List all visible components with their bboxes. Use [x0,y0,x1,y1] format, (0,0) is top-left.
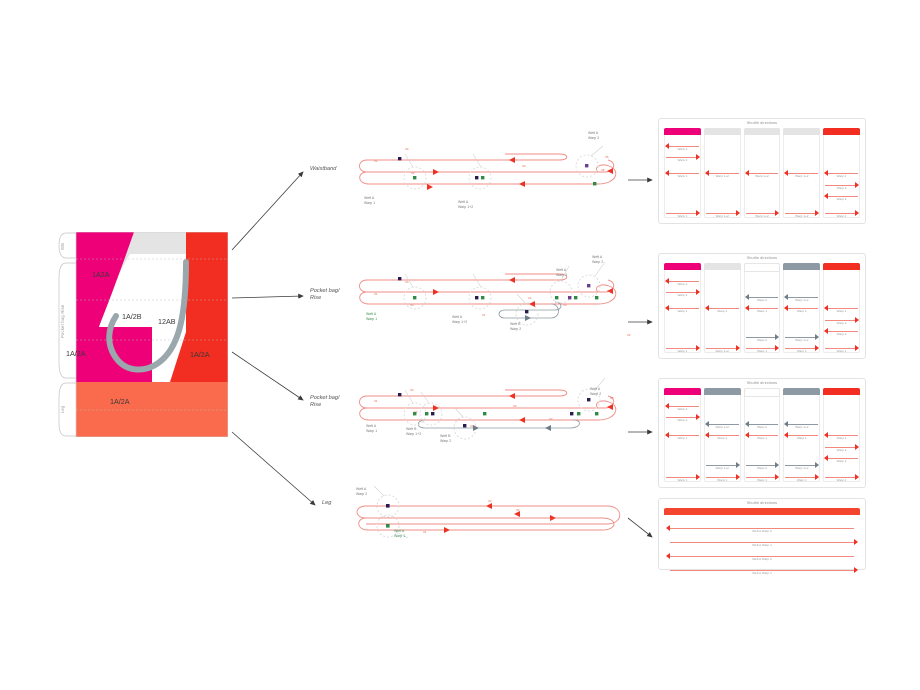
shuttle-directions-title: Shuttle directions [659,256,865,260]
shuttle-pass-label: Warp 1 [824,309,859,313]
warp-color-bar [783,128,820,135]
weave-pass-tag: X1 [482,313,486,317]
shuttle-pass-label: Warp 2 [665,147,700,151]
weave-pass-tag: X5 [607,289,611,293]
shuttle-pass-label: Warp 1 [784,478,819,482]
shuttle-grid-column: Warp 1Warp 1+2 [704,263,741,353]
shuttle-grid-pocketbag-1: Shuttle directionsWarp 2Warp 2Warp 1Warp… [658,253,866,359]
shuttle-pass-label: Warp 1 [784,436,819,440]
shuttle-pass-label: Warp 2 [745,425,780,429]
garment-zone-code: 1A/2A [110,397,130,406]
weave-label: Weft B Warp 2 [510,322,521,331]
shuttle-grid-column: Warp 2Warp 2Warp 1Warp 1 [664,128,701,218]
shuttle-pass-label: Warp 1+2 [705,214,740,218]
weave-path-pocketbag-1 [355,258,630,343]
weave-pass-tag: X4 [410,388,414,392]
shuttle-pass-label: Warp 1 [745,478,780,482]
shuttle-pass-label: Warp 2 [665,418,700,422]
shuttle-pass-label: Warp 1 [824,349,859,353]
shuttle-pass-label: Warp 1 [665,478,700,482]
garment-zone-code: 12AB [158,317,176,326]
shuttle-pass-label: Warp 1 [665,436,700,440]
shuttle-pass-label: Warp 2 [665,293,700,297]
garment-side-label: Pocket bag Rise [60,262,72,380]
weave-pass-tag: X4 [405,280,409,284]
weave-label: Weft A Warp 1 [556,268,567,277]
shuttle-pass-label: Warp 1 [665,349,700,353]
warp-color-bar [823,388,860,395]
shuttle-pass-label: Weft A Warp 2 [664,557,860,561]
weave-pass-tag: X2 [627,333,631,337]
shuttle-directions-title: Shuttle directions [659,381,865,385]
warp-color-bar [664,263,701,270]
weave-pass-tag: X1 [470,424,474,428]
shuttle-pass-label: Warp 1+2 [784,425,819,429]
garment-zone-code: 1A/2A [66,349,86,358]
shuttle-pass-label: Weft A Warp 1 [664,543,860,547]
shuttle-pass-label: Warp 1 [745,349,780,353]
shuttle-pass-label: Warp 2 [665,158,700,162]
shuttle-pass-label: Warp 1+2 [784,466,819,470]
weave-label: Weft A Warp 2 [588,131,599,140]
warp-color-bar [704,128,741,135]
shuttle-pass-label: Warp 1 [745,309,780,313]
garment-side-label: Leg [60,382,72,437]
shuttle-pass-label: Warp 2 [824,321,859,325]
shuttle-pass-label: Warp 1+2 [705,174,740,178]
weave-pass-tag: X6 [601,168,605,172]
garment-panel: WB Pocket bag Rise Leg 1A2A 1A/2B 12AB 1… [30,232,228,437]
shuttle-pass-label: Warp 2 [745,298,780,302]
shuttle-grid-column: Warp 1+2Warp 1+2 [783,128,820,218]
weave-label: Weft A Warp 1 [366,424,377,433]
shuttle-grid-column: Warp 1+2Warp 1Warp 1+2Warp 1 [783,263,820,353]
shuttle-pass-label: Warp 2 [665,407,700,411]
shuttle-grid-column: Warp 1+2Warp 1+2 [704,128,741,218]
weave-pass-tag: X1 [374,292,378,296]
shuttle-pass-label: Warp 1+2 [705,349,740,353]
weave-label: Weft A Warp 2 [592,255,603,264]
weave-label: Weft A Warp 1 [394,529,405,538]
shuttle-pass-label: Warp 1 [824,174,859,178]
shuttle-pass-label: Warp 1+2 [745,174,780,178]
weave-pass-tag: X4 [528,296,532,300]
shuttle-pass-label: Warp 1 [824,214,859,218]
warp-color-bar [783,388,820,395]
warp-color-bar [783,263,820,270]
shuttle-pass-label: Warp 1 [665,309,700,313]
shuttle-grid-column: Warp 1Warp 2Warp 2Warp 1 [823,263,860,353]
weave-diagram-pocketbag-2: Weft A Warp 1 Weft B Warp 1+2 Weft B War… [355,378,630,458]
garment-zone-code: 1A/2B [122,312,142,321]
weave-pass-tag: X3 [522,164,526,168]
weave-pass-tag: X2 [549,417,553,421]
weave-pass-tag: X4 [488,499,492,503]
weave-pass-tag: X1 [423,530,427,534]
shuttle-pass-label: Weft A Warp 2 [664,529,860,533]
weave-pass-tag: X3 [550,517,554,521]
weave-pass-tag: X2 [410,303,414,307]
shuttle-pass-label: Warp 1 [784,349,819,353]
garment-zone-code: 1A/2A [190,350,210,359]
section-caption-pocketbag-rise-2: Pocket bag/ Rise [310,395,340,410]
section-caption-leg: Leg [322,500,331,507]
shuttle-directions-title: Shuttle directions [659,121,865,125]
shuttle-grid-pocketbag-2: Shuttle directionsWarp 2Warp 2Warp 1Warp… [658,378,866,488]
weave-label: Weft B Warp 1+2 [406,427,421,436]
shuttle-pass-label: Warp 1+2 [784,174,819,178]
shuttle-pass-label: Warp 2 [824,197,859,201]
shuttle-grid-waistband: Shuttle directionsWarp 2Warp 2Warp 1Warp… [658,118,866,224]
weave-label: Weft B Warp 2 [440,434,451,443]
warp-color-bar [704,388,741,395]
shuttle-pass-label: Warp 2 [824,459,859,463]
shuttle-pass-label: Warp 1 [705,309,740,313]
shuttle-grid-column: Warp 2Warp 1Warp 2Warp 1 [744,388,781,482]
shuttle-directions-title: Shuttle directions [659,501,865,505]
shuttle-pass-label: Warp 1 [745,436,780,440]
weave-pass-tag: X1 [374,399,378,403]
warp-color-bar [823,263,860,270]
weave-path-leg [352,484,627,554]
shuttle-pass-label: Weft A Warp 1 [664,571,860,575]
shuttle-pass-label: Warp 1+2 [705,425,740,429]
weave-pass-tag: X5 [605,155,609,159]
weave-diagram-pocketbag-1: Weft A Warp 1 Weft A Warp 1+2 Weft B War… [355,258,630,343]
shuttle-pass-label: Warp 1+2 [705,466,740,470]
weave-label: Weft A Warp 2 [590,387,601,396]
garment-zone-code: 1A2A [92,270,110,279]
section-caption-waistband: Waistband [310,166,336,173]
weave-diagram-waistband: Weft A Warp 1 Weft A Warp 1+2 Weft A War… [355,140,630,220]
weave-pass-tag: X3 [513,404,517,408]
weave-label: Weft A Warp 1 [366,312,377,321]
shuttle-grid-leg: Shuttle directionsWeft A Warp 2Weft A Wa… [658,498,866,570]
shuttle-pass-label: Warp 1 [705,436,740,440]
warp-color-bar [704,263,741,270]
weave-pass-tag: X2 [411,171,415,175]
weave-label: Weft A Warp 2 [356,487,367,496]
weave-pass-tag: X5 [610,396,614,400]
shuttle-pass-label: Warp 2 [824,332,859,336]
weave-pass-tag: X4 [405,147,409,151]
weave-pass-tag: X2 [516,508,520,512]
shuttle-pass-label: Warp 2 [745,466,780,470]
shuttle-pass-label: Warp 1 [784,309,819,313]
weave-path-waistband [355,140,630,220]
warp-color-bar [823,128,860,135]
weft-color-bar [664,508,860,515]
weave-pass-tag: X3 [563,303,567,307]
shuttle-pass-label: Warp 2 [745,338,780,342]
shuttle-grid-column: Warp 2Warp 2Warp 1Warp 1 [664,388,701,482]
warp-color-bar [744,388,781,397]
shuttle-pass-label: Warp 2 [824,186,859,190]
shuttle-pass-label: Warp 1+2 [784,338,819,342]
shuttle-pass-label: Warp 1 [665,214,700,218]
diagram-canvas: WB Pocket bag Rise Leg 1A2A 1A/2B 12AB 1… [0,0,920,690]
weave-label: Weft A Warp 1 [364,196,375,205]
shuttle-grid-column: Warp 1Warp 2Warp 2Warp 1 [823,388,860,482]
section-caption-pocketbag-rise-1: Pocket bag/ Rise [310,288,340,303]
weave-pass-tag: X1 [374,159,378,163]
warp-color-bar [664,388,701,395]
weave-path-pocketbag-2 [355,378,630,458]
shuttle-pass-label: Warp 2 [824,448,859,452]
shuttle-grid-column: Warp 1+2Warp 1+2 [744,128,781,218]
weave-label: Weft A Warp 1+2 [452,315,467,324]
shuttle-grid-column: Warp 2Warp 1Warp 2Warp 1 [744,263,781,353]
shuttle-grid-column: Warp 1+2Warp 1Warp 1+2Warp 1 [704,388,741,482]
shuttle-pass-label: Warp 1 [665,174,700,178]
weave-diagram-leg: Weft A Warp 2 Weft A Warp 1 X4 X2 X3 X1 [352,484,627,554]
shuttle-pass-label: Warp 1+2 [745,214,780,218]
shuttle-pass-label: Warp 1 [824,478,859,482]
shuttle-pass-label: Warp 1 [824,436,859,440]
shuttle-pass-label: Warp 1 [705,478,740,482]
warp-color-bar [744,263,781,272]
warp-color-bar [744,128,781,135]
shuttle-grid-column: Warp 2Warp 2Warp 1Warp 1 [664,263,701,353]
shuttle-pass-label: Warp 2 [665,282,700,286]
shuttle-pass-label: Warp 1+2 [784,298,819,302]
weave-label: Weft A Warp 1+2 [458,200,473,209]
garment-side-label: WB [60,232,72,260]
shuttle-pass-label: Warp 1+2 [784,214,819,218]
shuttle-grid-column: Warp 1+2Warp 1Warp 1+2Warp 1 [783,388,820,482]
shuttle-grid-column: Warp 1Warp 2Warp 2Warp 1 [823,128,860,218]
warp-color-bar [664,128,701,135]
weave-pass-tag: X7 [414,410,418,414]
